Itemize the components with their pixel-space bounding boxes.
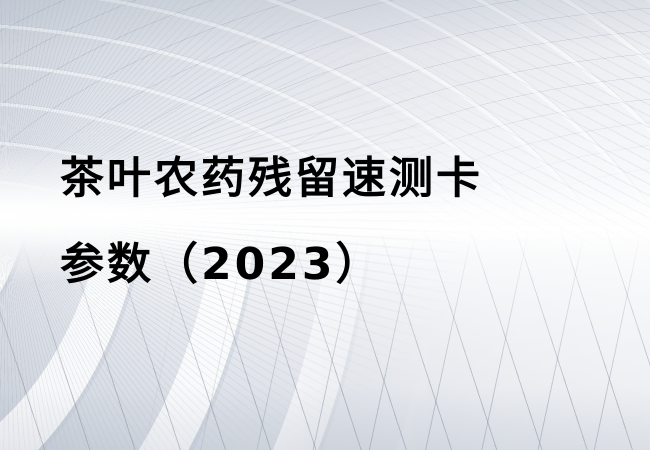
title-line-2: 参数（2023） — [60, 222, 620, 308]
title-line-1: 茶叶农药残留速测卡 — [60, 136, 620, 222]
page-title: 茶叶农药残留速测卡 参数（2023） — [60, 136, 620, 308]
title-banner: 茶叶农药残留速测卡 参数（2023） — [0, 0, 650, 450]
